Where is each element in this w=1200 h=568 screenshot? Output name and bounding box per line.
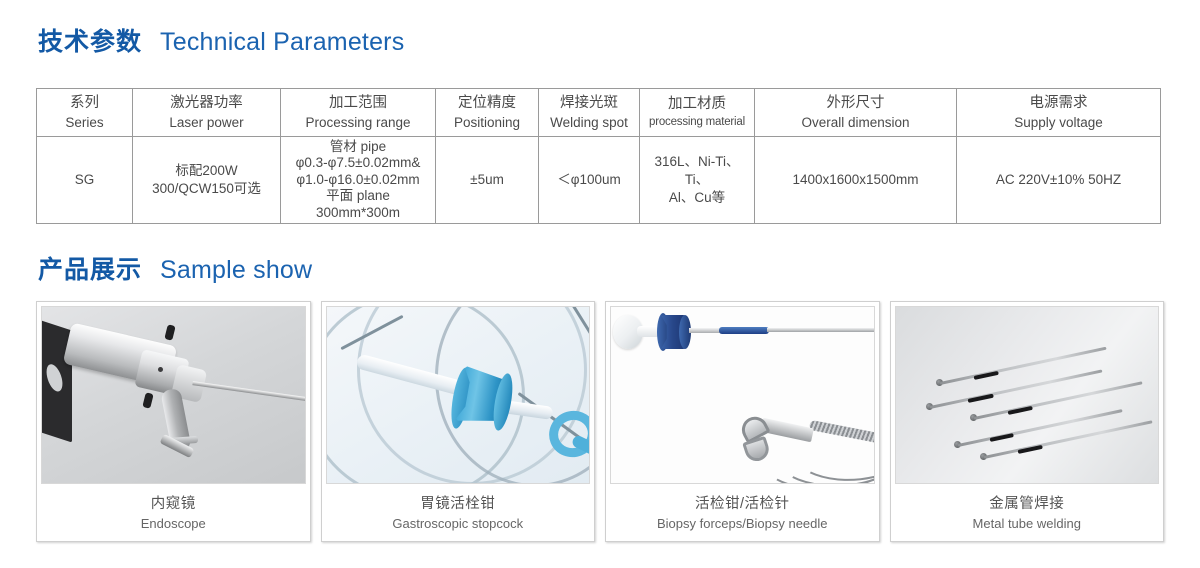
page-root: 技术参数 Technical Parameters 系列 Series 激光器功…	[0, 0, 1200, 568]
cell-value: 1400x1600x1500mm	[758, 171, 953, 189]
caption-cn: 活检钳/活检针	[695, 492, 790, 513]
metal-shaft-shape	[767, 328, 875, 332]
specification-table: 系列 Series 激光器功率 Laser power 加工范围 Process…	[36, 88, 1161, 224]
cell-value-line-1: 标配200W	[136, 162, 277, 180]
sample-show-heading-cn: 产品展示	[38, 250, 142, 286]
cell-positioning: ±5um	[436, 137, 539, 224]
sample-caption: 金属管焊接 Metal tube welding	[891, 484, 1164, 541]
sample-card-list: 内窥镜 Endoscope 胃镜活栓钳	[36, 301, 1164, 542]
endoscope-photo	[41, 306, 306, 484]
caption-en: Biopsy forceps/Biopsy needle	[657, 516, 828, 531]
header-en: processing material	[643, 115, 751, 130]
cell-value-line-2: φ0.3-φ7.5±0.02mm&	[284, 155, 432, 171]
adjust-knob-shape	[164, 324, 175, 340]
cell-value-line-5: 300mm*300m	[284, 205, 432, 221]
caption-cn: 内窥镜	[151, 492, 196, 513]
header-en: Processing range	[284, 114, 432, 132]
table-header-series: 系列 Series	[37, 89, 133, 137]
cell-value-line-2: 300/QCW150可选	[136, 180, 277, 198]
cell-series: SG	[37, 137, 133, 224]
cell-value-line-3: φ1.0-φ16.0±0.02mm	[284, 172, 432, 188]
caption-en: Endoscope	[141, 516, 206, 531]
cell-value-line-4: 平面 plane	[284, 188, 432, 204]
cell-value: ±5um	[439, 171, 535, 189]
header-cn: 定位精度	[439, 94, 535, 114]
cell-welding-spot: ＜φ100um	[539, 137, 640, 224]
table-header-laser-power: 激光器功率 Laser power	[133, 89, 281, 137]
cell-processing-material: 316L、Ni-Ti、Ti、 Al、Cu等	[640, 137, 755, 224]
sample-card-endoscope[interactable]: 内窥镜 Endoscope	[36, 301, 311, 542]
technical-parameters-heading-cn: 技术参数	[38, 22, 142, 58]
table-header-row: 系列 Series 激光器功率 Laser power 加工范围 Process…	[37, 89, 1161, 137]
cell-value-line-1: 管材 pipe	[284, 139, 432, 155]
table-row: SG 标配200W 300/QCW150可选 管材 pipe φ0.3-φ7.5…	[37, 137, 1161, 224]
sample-card-biopsy-forceps[interactable]: 活检钳/活检针 Biopsy forceps/Biopsy needle	[605, 301, 880, 542]
welded-rod-shape	[973, 381, 1142, 420]
technical-parameters-heading: 技术参数 Technical Parameters	[38, 22, 404, 58]
welded-rod-shape	[929, 369, 1102, 409]
cell-value: AC 220V±10% 50HZ	[960, 171, 1157, 189]
cell-laser-power: 标配200W 300/QCW150可选	[133, 137, 281, 224]
metal-shaft-shape	[689, 328, 721, 333]
table-header-processing-material: 加工材质 processing material	[640, 89, 755, 137]
table-header-welding-spot: 焊接光斑 Welding spot	[539, 89, 640, 137]
cell-value-line-1: 316L、Ni-Ti、Ti、	[643, 153, 751, 189]
sample-caption: 胃镜活栓钳 Gastroscopic stopcock	[322, 484, 595, 541]
caption-en: Gastroscopic stopcock	[392, 516, 523, 531]
biopsy-forceps-photo	[610, 306, 875, 484]
cell-overall-dimension: 1400x1600x1500mm	[755, 137, 957, 224]
header-cn: 外形尺寸	[758, 94, 953, 114]
cell-value-line-2: Al、Cu等	[643, 189, 751, 207]
header-cn: 焊接光斑	[542, 94, 636, 114]
table-header-positioning: 定位精度 Positioning	[436, 89, 539, 137]
barrel-port-shape	[158, 367, 163, 372]
table-header-supply-voltage: 电源需求 Supply voltage	[957, 89, 1161, 137]
table-header-processing-range: 加工范围 Processing range	[281, 89, 436, 137]
gastroscopic-stopcock-photo	[326, 306, 591, 484]
header-en: Series	[40, 114, 129, 132]
header-en: Supply voltage	[960, 114, 1157, 132]
sample-card-metal-tube-welding[interactable]: 金属管焊接 Metal tube welding	[890, 301, 1165, 542]
blue-shaft-segment-shape	[719, 327, 769, 334]
cell-value: SG	[40, 171, 129, 189]
caption-en: Metal tube welding	[973, 516, 1081, 531]
adjust-knob-shape	[142, 392, 153, 408]
caption-cn: 金属管焊接	[989, 492, 1064, 513]
sample-caption: 活检钳/活检针 Biopsy forceps/Biopsy needle	[606, 484, 879, 541]
header-cn: 电源需求	[960, 94, 1157, 114]
header-cn: 加工材质	[643, 95, 751, 115]
sample-show-heading: 产品展示 Sample show	[38, 250, 312, 286]
header-cn: 激光器功率	[136, 94, 277, 114]
technical-parameters-heading-en: Technical Parameters	[160, 28, 404, 57]
caption-cn: 胃镜活栓钳	[420, 492, 495, 513]
sample-card-gastroscopic-stopcock[interactable]: 胃镜活栓钳 Gastroscopic stopcock	[321, 301, 596, 542]
header-cn: 系列	[40, 94, 129, 114]
header-en: Laser power	[136, 114, 277, 132]
header-en: Welding spot	[542, 114, 636, 132]
header-en: Positioning	[439, 114, 535, 132]
cell-processing-range: 管材 pipe φ0.3-φ7.5±0.02mm& φ1.0-φ16.0±0.0…	[281, 137, 436, 224]
cell-value: ＜φ100um	[542, 171, 636, 189]
sample-caption: 内窥镜 Endoscope	[37, 484, 310, 541]
header-cn: 加工范围	[284, 94, 432, 114]
sample-show-heading-en: Sample show	[160, 256, 312, 285]
cell-supply-voltage: AC 220V±10% 50HZ	[957, 137, 1161, 224]
header-en: Overall dimension	[758, 114, 953, 132]
metal-tube-welding-photo	[895, 306, 1160, 484]
welded-rod-shape	[939, 347, 1106, 385]
welded-rod-shape	[983, 420, 1152, 459]
table-header-overall-dimension: 外形尺寸 Overall dimension	[755, 89, 957, 137]
weld-seam-shape	[989, 433, 1013, 442]
needle-rod-shape	[192, 381, 305, 403]
